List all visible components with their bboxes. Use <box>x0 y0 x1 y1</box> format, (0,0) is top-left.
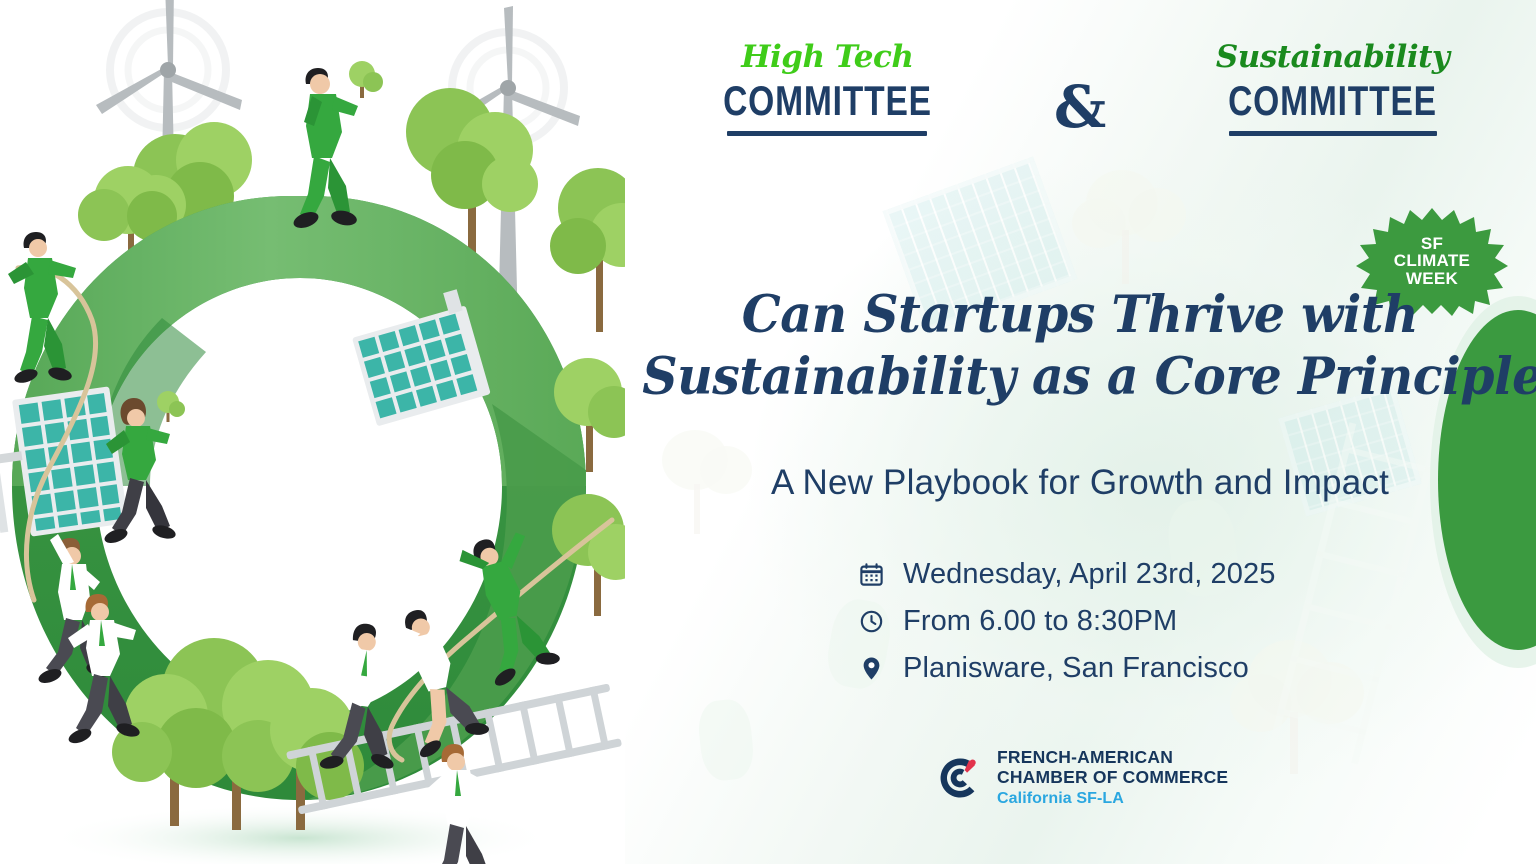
badge-line-1: SF <box>1421 235 1443 252</box>
facc-line-2: CHAMBER OF COMMERCE <box>997 768 1228 788</box>
event-flyer: High Tech COMMITTEE & Sustainability COM… <box>0 0 1536 864</box>
committees-header: High Tech COMMITTEE & Sustainability COM… <box>624 42 1536 172</box>
calendar-icon <box>856 560 886 590</box>
location-pin-icon <box>856 654 886 684</box>
high-tech-kicker: High Tech <box>741 42 913 73</box>
event-subtitle: A New Playbook for Growth and Impact <box>624 463 1536 503</box>
event-title-line-2: Sustainability as a Core Principle? <box>642 347 1518 409</box>
ampersand: & <box>1054 78 1106 136</box>
facc-c-logo-icon <box>936 754 984 802</box>
high-tech-underline <box>727 131 927 136</box>
detail-row-location: Planisware, San Francisco <box>856 652 1275 685</box>
sustainability-committee-label: COMMITTEE <box>1228 80 1437 122</box>
event-date: Wednesday, April 23rd, 2025 <box>903 558 1275 591</box>
sustainability-underline <box>1229 131 1437 136</box>
event-title-line-1: Can Startups Thrive with <box>642 285 1518 347</box>
event-location: Planisware, San Francisco <box>903 652 1249 685</box>
watermark-tree-icon <box>1070 170 1200 290</box>
sustainability-kicker: Sustainability <box>1216 42 1450 73</box>
high-tech-committee: High Tech COMMITTEE <box>697 42 958 136</box>
facc-line-3: California SF-LA <box>997 790 1228 808</box>
facc-logo: FRENCH-AMERICAN CHAMBER OF COMMERCE Cali… <box>936 748 1228 808</box>
badge-line-2: CLIMATE <box>1394 252 1470 269</box>
event-time: From 6.00 to 8:30PM <box>903 605 1177 638</box>
detail-row-date: Wednesday, April 23rd, 2025 <box>856 558 1275 591</box>
high-tech-committee-label: COMMITTEE <box>723 80 932 122</box>
event-title: Can Startups Thrive with Sustainability … <box>642 285 1518 408</box>
sustainability-globe-illustration <box>0 0 625 864</box>
facc-logo-text: FRENCH-AMERICAN CHAMBER OF COMMERCE Cali… <box>997 748 1228 808</box>
event-details: Wednesday, April 23rd, 2025 From 6.00 to… <box>856 558 1275 685</box>
detail-row-time: From 6.00 to 8:30PM <box>856 605 1275 638</box>
sustainability-committee: Sustainability COMMITTEE <box>1202 42 1463 136</box>
facc-line-1: FRENCH-AMERICAN <box>997 748 1228 768</box>
clock-icon <box>856 607 886 637</box>
